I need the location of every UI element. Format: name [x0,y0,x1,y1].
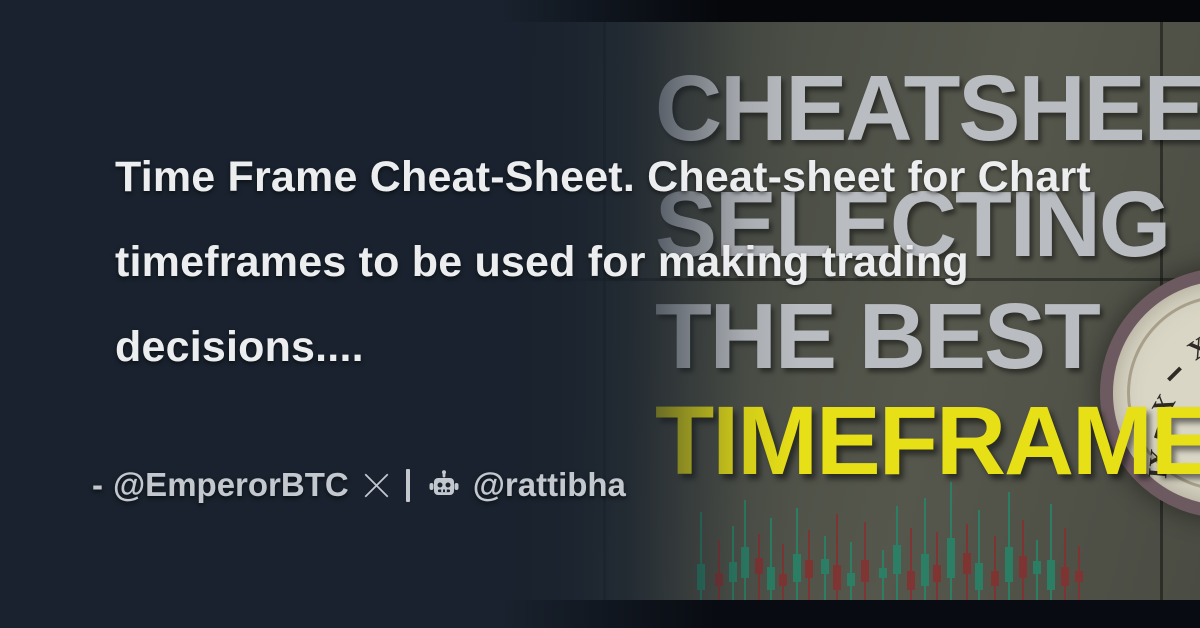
separator-pipe [406,469,410,502]
share-card: CHEATSHEET SELECTING THE BEST XII XI X I… [0,0,1200,628]
attribution-dash: - [92,466,103,504]
card-title: Time Frame Cheat-Sheet. Cheat-sheet for … [115,135,1100,390]
x-logo-icon [363,472,390,499]
source-handle[interactable]: @rattibha [473,466,626,504]
robot-icon [428,469,460,501]
card-content: Time Frame Cheat-Sheet. Cheat-sheet for … [0,0,1200,628]
author-handle[interactable]: @EmperorBTC [113,466,349,504]
attribution-line: - @EmperorBTC [92,466,626,504]
